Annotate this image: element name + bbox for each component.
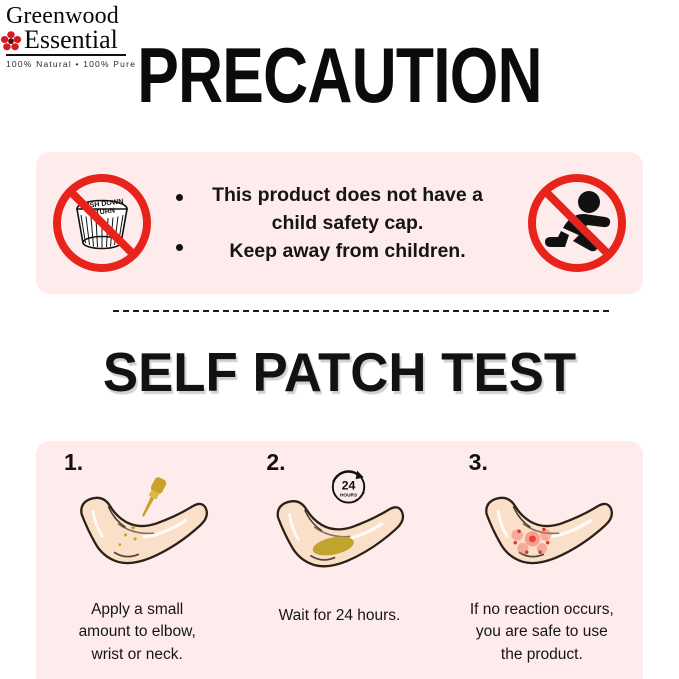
patch-test-step-1: 1. Apply a smal: [36, 441, 238, 679]
precaution-panel: PUSH DOWN & TURN This product does not h…: [36, 152, 643, 294]
arm-with-dropper-icon: [36, 465, 238, 585]
twenty-four-hours-badge: 24 HOURS: [333, 471, 364, 503]
no-children-icon: [525, 171, 629, 275]
no-child-safety-cap-icon: PUSH DOWN & TURN: [50, 171, 154, 275]
step-caption-1: Apply a small amount to elbow, wrist or …: [40, 599, 234, 666]
step-caption-2: Wait for 24 hours.: [242, 605, 436, 627]
bullet-dot-1: [176, 194, 183, 201]
page-title-precaution: PRECAUTION: [68, 36, 611, 114]
precaution-line-1: This product does not have a: [170, 181, 510, 209]
arm-with-oil-patch-icon: 24 HOURS: [238, 465, 440, 585]
bullet-dot-2: [176, 244, 183, 251]
precaution-line-3: Keep away from children.: [170, 237, 510, 265]
section-divider: [113, 310, 609, 312]
step-caption-1-line-2: amount to elbow,: [40, 621, 234, 643]
page-title-self-patch-test: SELF PATCH TEST: [14, 345, 666, 400]
step-caption-1-line-3: wrist or neck.: [40, 644, 234, 666]
step-caption-2-line-1: Wait for 24 hours.: [242, 605, 436, 627]
step-caption-3: If no reaction occurs, you are safe to u…: [445, 599, 639, 666]
patch-test-step-2: 2. 24 HOURS: [238, 441, 440, 679]
step-caption-3-line-2: you are safe to use: [445, 621, 639, 643]
svg-text:HOURS: HOURS: [340, 492, 357, 498]
svg-text:24: 24: [342, 479, 356, 493]
precaution-line-2: child safety cap.: [170, 209, 510, 237]
flower-icon: [0, 30, 22, 52]
step-caption-3-line-3: the product.: [445, 644, 639, 666]
patch-test-panel: 1. Apply a smal: [36, 441, 643, 679]
arm-with-rash-icon: [441, 465, 643, 585]
patch-test-step-3: 3.: [441, 441, 643, 679]
step-caption-1-line-1: Apply a small: [40, 599, 234, 621]
step-caption-3-line-1: If no reaction occurs,: [445, 599, 639, 621]
precaution-text-block: This product does not have a child safet…: [154, 181, 525, 266]
